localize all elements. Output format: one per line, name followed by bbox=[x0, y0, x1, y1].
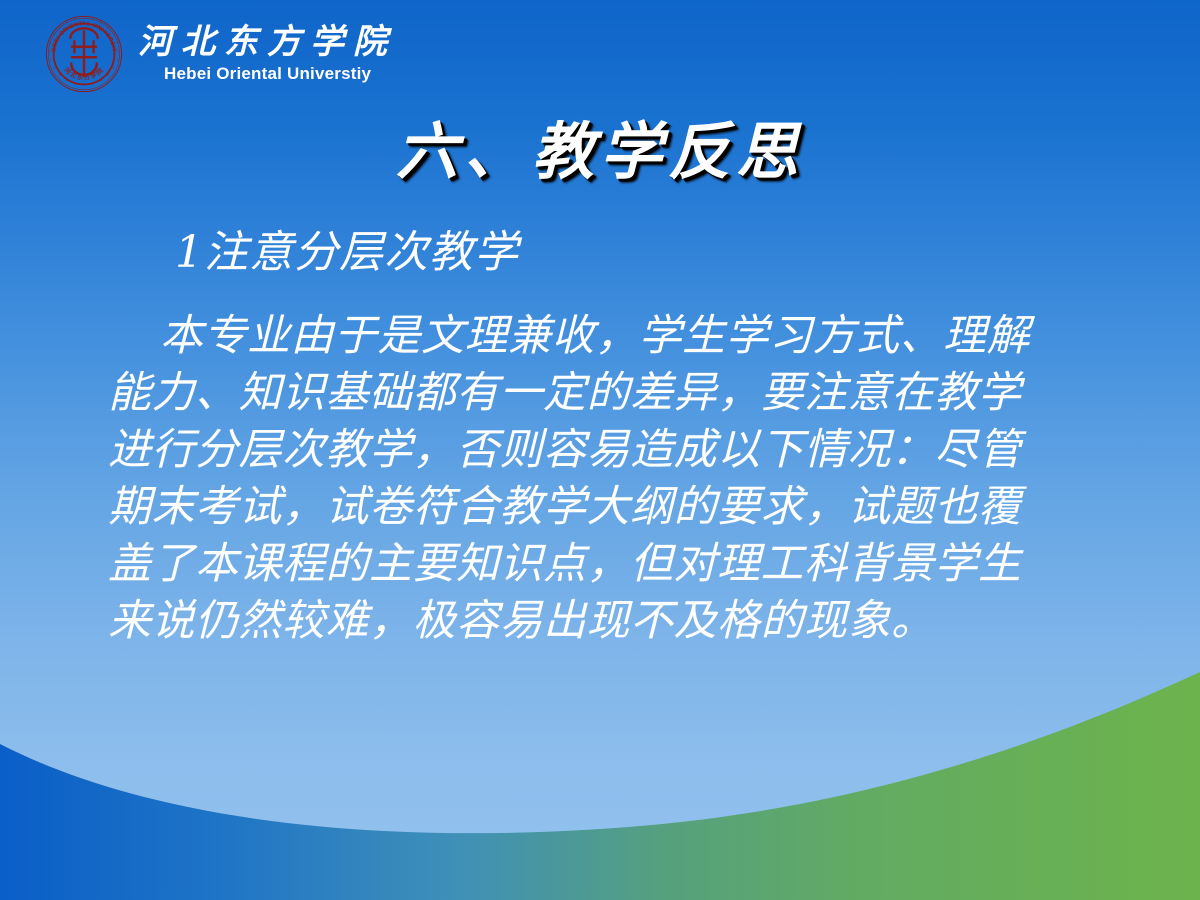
body-line: 盖了本课程的主要知识点，但对理工科背景学生 bbox=[108, 536, 1118, 593]
brand-text-block: 河北东方学院 Hebei Oriental Universtiy bbox=[138, 23, 396, 84]
body-line: 本专业由于是文理兼收，学生学习方式、理解 bbox=[108, 308, 1118, 365]
university-brand-lockup: HEBEI ORIENTAL UNIVERSITY 河北东方学院 河北东方学院 … bbox=[44, 14, 396, 94]
decorative-wave-graphic bbox=[0, 640, 1200, 900]
presentation-slide: HEBEI ORIENTAL UNIVERSITY 河北东方学院 河北东方学院 … bbox=[0, 0, 1200, 900]
slide-subheading: 1注意分层次教学 bbox=[175, 228, 519, 279]
body-line: 来说仍然较难，极容易出现不及格的现象。 bbox=[108, 593, 1118, 650]
slide-body-paragraph: 本专业由于是文理兼收，学生学习方式、理解 能力、知识基础都有一定的差异，要注意在… bbox=[108, 308, 1118, 650]
university-seal-icon: HEBEI ORIENTAL UNIVERSITY 河北东方学院 bbox=[44, 14, 124, 94]
university-name-cn: 河北东方学院 bbox=[138, 25, 396, 61]
body-line: 进行分层次教学，否则容易造成以下情况：尽管 bbox=[108, 422, 1118, 479]
slide-headline: 六、教学反思 bbox=[0, 118, 1200, 186]
body-line: 期末考试，试卷符合教学大纲的要求，试题也覆 bbox=[108, 479, 1118, 536]
university-name-en: Hebei Oriental Universtiy bbox=[164, 64, 396, 84]
body-line: 能力、知识基础都有一定的差异，要注意在教学 bbox=[108, 365, 1118, 422]
